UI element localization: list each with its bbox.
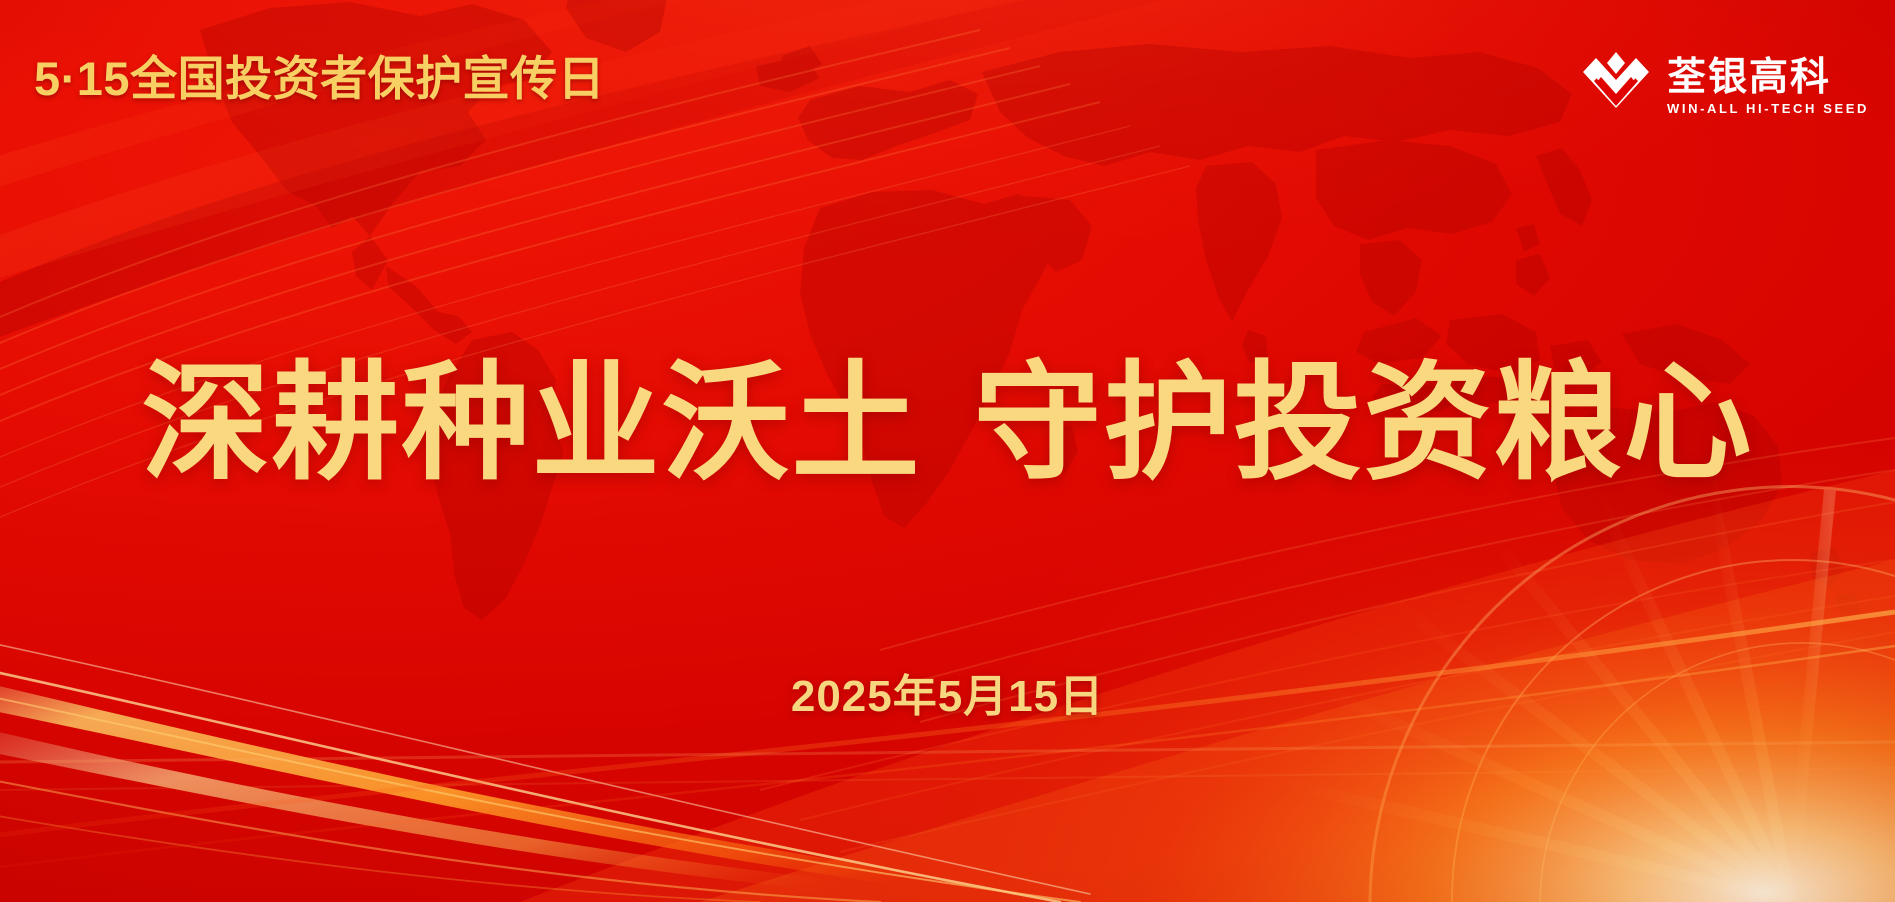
logo-name-en: WIN-ALL HI-TECH SEED: [1667, 102, 1869, 115]
logo-wordmark: 荃银高科 WIN-ALL HI-TECH SEED: [1667, 58, 1869, 115]
headline-phrase-left: 深耕种业沃土: [141, 352, 921, 495]
page-title: 深耕种业沃土守护投资粮心: [0, 352, 1895, 495]
headline-phrase-right: 守护投资粮心: [974, 352, 1754, 495]
company-logo: 荃银高科 WIN-ALL HI-TECH SEED: [1581, 50, 1869, 122]
investor-protection-banner: 5·15全国投资者保护宣传日 荃银高科 WIN-ALL HI-TECH SEED…: [0, 0, 1895, 902]
chevron-diamond-logo-icon: [1581, 50, 1651, 122]
logo-name-cn: 荃银高科: [1667, 58, 1869, 97]
campaign-subtitle: 5·15全国投资者保护宣传日: [34, 54, 605, 103]
event-date: 2025年5月15日: [0, 660, 1895, 724]
